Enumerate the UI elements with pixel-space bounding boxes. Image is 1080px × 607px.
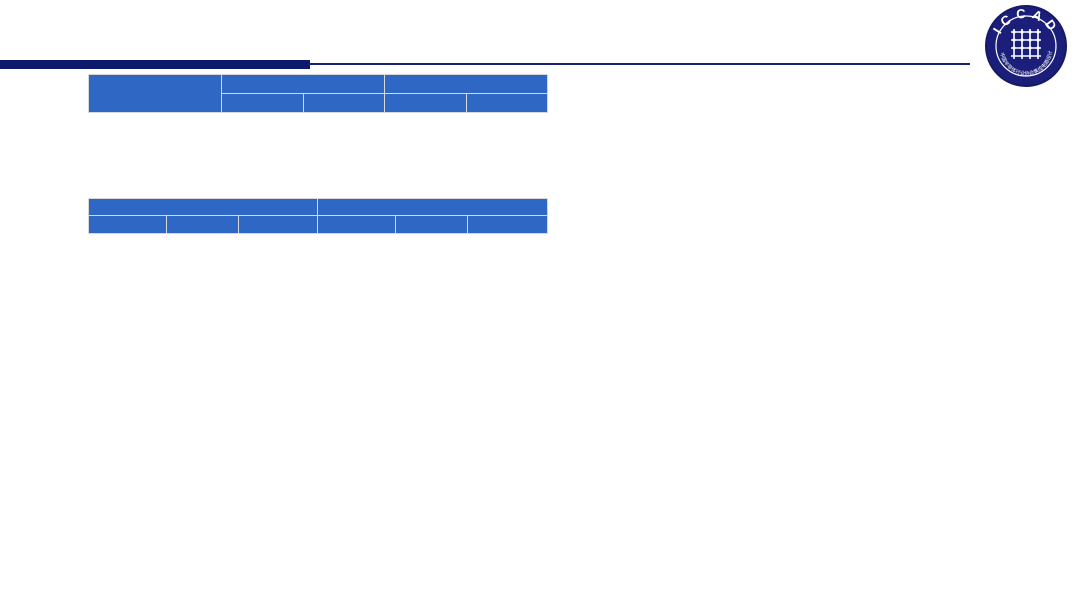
- city-table-header-row-2: [89, 216, 548, 233]
- region-col-header: [89, 75, 222, 113]
- region-2021-count-header: [222, 94, 303, 113]
- city-year-2022-header: [318, 199, 548, 216]
- region-2022-share-header: [466, 94, 547, 113]
- region-2022-count-header: [385, 94, 466, 113]
- region-year-2022-header: [385, 75, 548, 94]
- city-distribution-table: [88, 198, 548, 234]
- region-table-header-row-1: [89, 75, 548, 94]
- city-table-head: [89, 199, 548, 234]
- city-pie-chart: [575, 312, 1080, 562]
- region-distribution-table: [88, 74, 548, 113]
- region-year-2021-header: [222, 75, 385, 94]
- region-pie-chart: [575, 62, 1080, 307]
- region-2021-share-header: [303, 94, 384, 113]
- city-year-2021-header: [89, 199, 318, 216]
- region-pie-svg: [575, 62, 1080, 267]
- city-pie-svg: [575, 312, 1080, 524]
- city-2021-city-header: [89, 216, 167, 233]
- city-table-header-row-1: [89, 199, 548, 216]
- region-table-head: [89, 75, 548, 113]
- city-2021-count-header: [166, 216, 238, 233]
- city-2021-share-header: [238, 216, 318, 233]
- city-2022-share-header: [468, 216, 548, 233]
- city-2022-city-header: [318, 216, 396, 233]
- header-accent-bar: [0, 60, 310, 69]
- city-2022-count-header: [396, 216, 468, 233]
